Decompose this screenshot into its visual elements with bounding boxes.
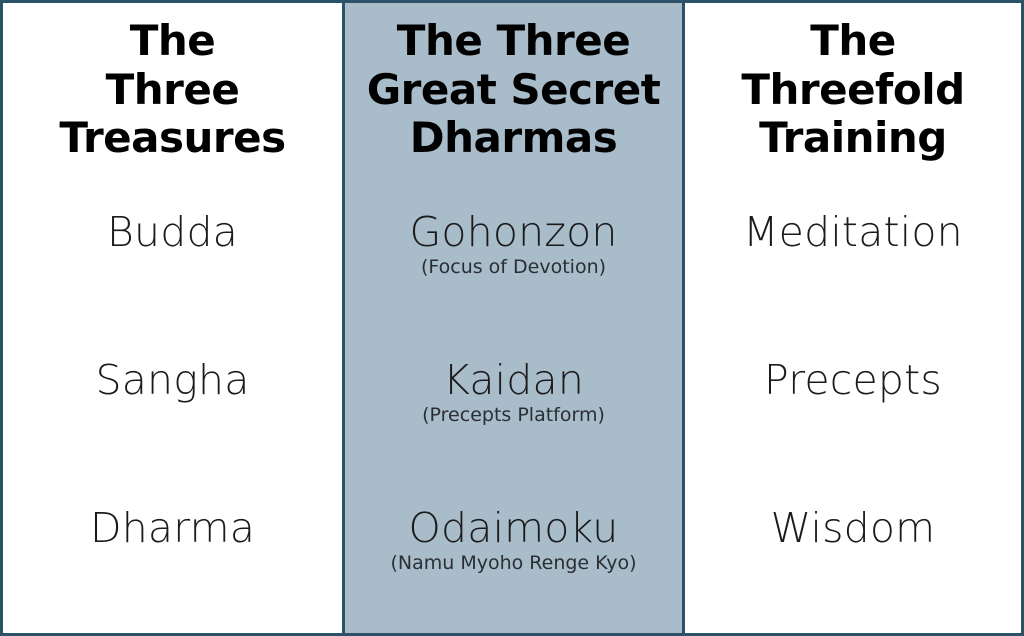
comparison-table-infographic: The Three Treasures Budda Sangha Dharma — [0, 0, 1024, 636]
column-title-line-2: Threefold — [741, 66, 964, 115]
column-title-line-3: Training — [741, 114, 964, 163]
table-cell: Meditation — [685, 189, 1021, 337]
columns-container: The Three Treasures Budda Sangha Dharma — [3, 3, 1021, 633]
column-three-treasures: The Three Treasures Budda Sangha Dharma — [3, 3, 342, 633]
table-cell: Budda — [3, 189, 342, 337]
column-body: Gohonzon (Focus of Devotion) Kaidan (Pre… — [345, 189, 682, 633]
cell-term: Dharma — [90, 507, 255, 550]
cell-subtitle: (Namu Myoho Renge Kyo) — [390, 552, 636, 575]
table-cell: Precepts — [685, 337, 1021, 485]
column-title-line-1: The — [741, 17, 964, 66]
table-cell: Kaidan (Precepts Platform) — [345, 337, 682, 485]
column-title-line-3: Treasures — [59, 114, 285, 163]
table-cell: Odaimoku (Namu Myoho Renge Kyo) — [345, 485, 682, 633]
cell-term: Odaimoku — [409, 507, 619, 550]
column-header-three-great-secret-dharmas: The Three Great Secret Dharmas — [345, 3, 682, 189]
cell-term: Kaidan — [443, 359, 584, 402]
column-header-threefold-training: The Threefold Training — [685, 3, 1021, 189]
column-title: The Three Great Secret Dharmas — [367, 17, 661, 163]
cell-term: Meditation — [743, 211, 963, 254]
cell-term: Budda — [107, 211, 238, 254]
cell-subtitle: (Precepts Platform) — [422, 404, 605, 427]
table-cell: Wisdom — [685, 485, 1021, 633]
column-three-great-secret-dharmas: The Three Great Secret Dharmas Gohonzon … — [342, 3, 685, 633]
column-title-line-3: Dharmas — [367, 114, 661, 163]
column-body: Budda Sangha Dharma — [3, 189, 342, 633]
column-body: Meditation Precepts Wisdom — [685, 189, 1021, 633]
column-title-line-2: Three — [59, 66, 285, 115]
column-title: The Threefold Training — [741, 17, 964, 163]
cell-term: Precepts — [764, 359, 942, 402]
column-threefold-training: The Threefold Training Meditation Precep… — [685, 3, 1021, 633]
column-title: The Three Treasures — [59, 17, 285, 163]
cell-term: Wisdom — [771, 507, 936, 550]
table-cell: Dharma — [3, 485, 342, 633]
column-header-three-treasures: The Three Treasures — [3, 3, 342, 189]
cell-term: Sangha — [95, 359, 249, 402]
column-title-line-2: Great Secret — [367, 66, 661, 115]
table-cell: Gohonzon (Focus of Devotion) — [345, 189, 682, 337]
cell-term: Gohonzon — [409, 211, 617, 254]
cell-subtitle: (Focus of Devotion) — [421, 256, 606, 279]
table-cell: Sangha — [3, 337, 342, 485]
column-title-line-1: The — [59, 17, 285, 66]
column-title-line-1: The Three — [367, 17, 661, 66]
